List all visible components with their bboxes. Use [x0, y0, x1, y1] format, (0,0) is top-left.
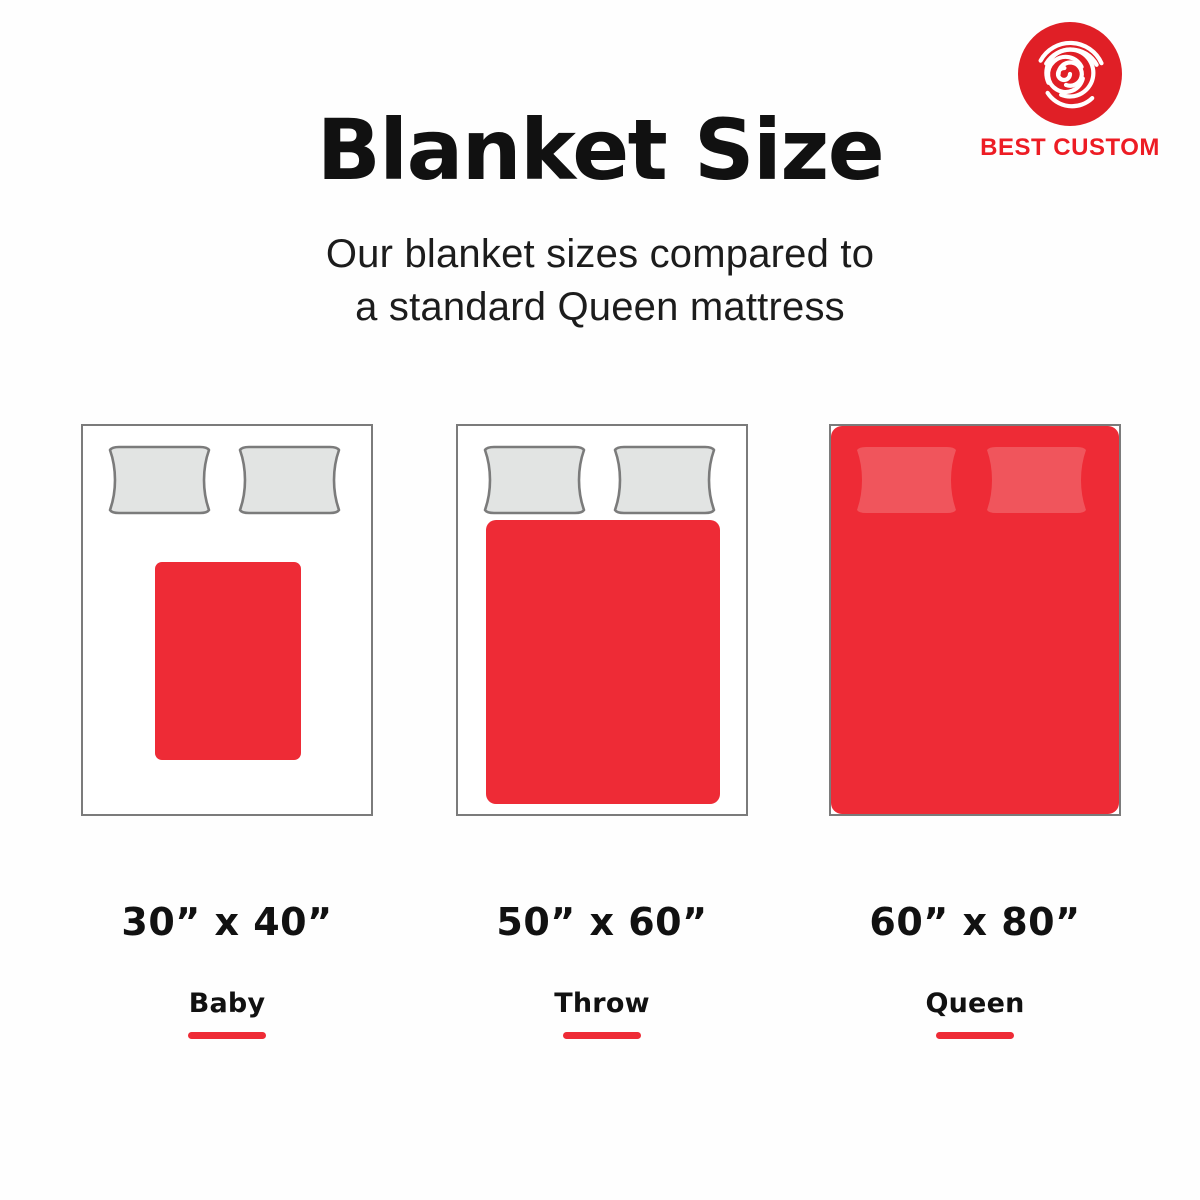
size-dimensions: 60” x 80”	[829, 900, 1121, 944]
pillow-left-icon	[857, 447, 956, 513]
size-dimensions: 30” x 40”	[81, 900, 373, 944]
page-subtitle-line-1: Our blanket sizes compared to	[0, 228, 1200, 281]
blanket-overlay-queen	[831, 426, 1119, 814]
size-name: Baby	[81, 988, 373, 1019]
pillow-left-icon	[103, 444, 216, 516]
accent-underline	[563, 1032, 641, 1039]
size-caption-baby: 30” x 40” Baby	[81, 900, 373, 1039]
bed-diagram-baby	[81, 424, 373, 816]
accent-underline	[936, 1032, 1014, 1039]
blanket-overlay-baby	[155, 562, 301, 760]
pillow-left-icon	[478, 444, 591, 516]
page-subtitle-line-2: a standard Queen mattress	[0, 281, 1200, 334]
page-title: Blanket Size	[0, 108, 1200, 192]
pillow-right-icon	[987, 447, 1086, 513]
pillow-right-icon	[233, 444, 346, 516]
blanket-overlay-throw	[486, 520, 720, 804]
accent-underline	[188, 1032, 266, 1039]
size-caption-queen: 60” x 80” Queen	[829, 900, 1121, 1039]
size-name: Queen	[829, 988, 1121, 1019]
size-dimensions: 50” x 60”	[456, 900, 748, 944]
size-caption-throw: 50” x 60” Throw	[456, 900, 748, 1039]
bed-diagram-queen	[829, 424, 1121, 816]
bed-comparison-row	[0, 424, 1200, 816]
bed-diagram-throw	[456, 424, 748, 816]
page-subtitle: Our blanket sizes compared to a standard…	[0, 228, 1200, 334]
size-name: Throw	[456, 988, 748, 1019]
pillow-right-icon	[608, 444, 721, 516]
